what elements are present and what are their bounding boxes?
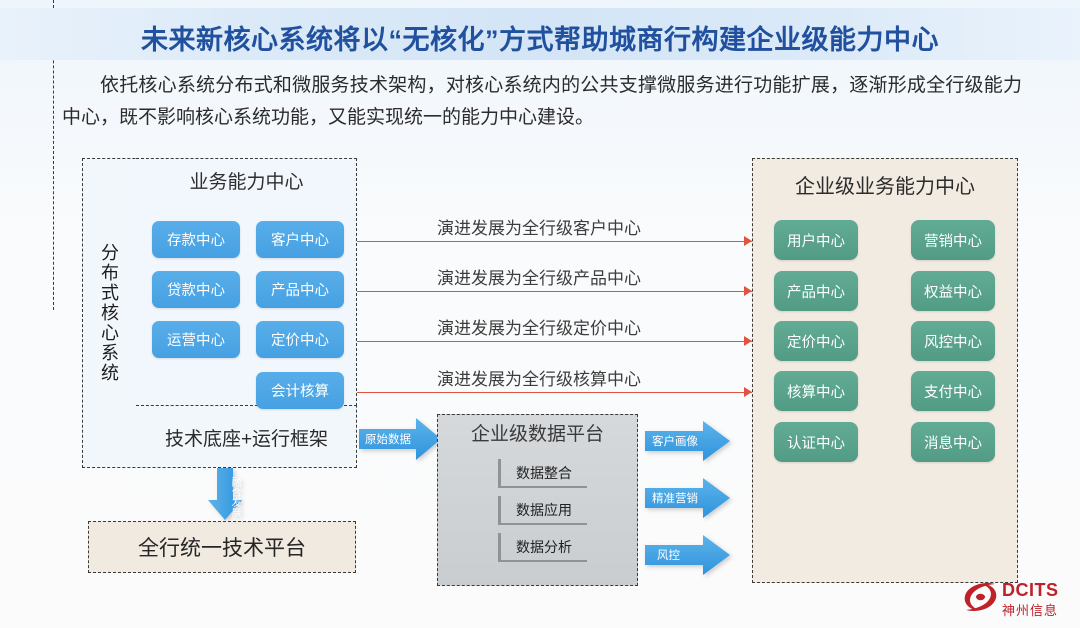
core-box-deposit[interactable]: 存款中心 — [152, 221, 240, 258]
output-arrow-customer-profile: 客户画像 — [645, 421, 730, 461]
data-platform-item-integration[interactable]: 数据整合 — [498, 459, 587, 488]
data-platform-item-analysis[interactable]: 数据分析 — [498, 533, 587, 562]
output-arrow-precision-marketing: 精准营销 — [645, 478, 730, 518]
dcits-logo: DCITS 神州信息 — [962, 578, 1074, 622]
dcits-swirl-icon — [962, 580, 998, 614]
core-box-pricing[interactable]: 定价中心 — [256, 321, 344, 358]
output-arrow-label-customer-profile: 客户画像 — [645, 421, 737, 461]
logo-text-cn: 神州信息 — [1002, 600, 1058, 619]
ent-box-payment[interactable]: 支付中心 — [911, 371, 995, 411]
output-arrow-risk-control: 风控 — [645, 535, 730, 575]
ent-box-product[interactable]: 产品中心 — [774, 271, 858, 311]
ent-box-risk[interactable]: 风控中心 — [911, 321, 995, 361]
data-platform-item-application[interactable]: 数据应用 — [498, 496, 587, 525]
slide-canvas: 未来新核心系统将以“无核化”方式帮助城商行构建企业级能力中心 依托核心系统分布式… — [0, 0, 1080, 628]
ent-box-benefits[interactable]: 权益中心 — [911, 271, 995, 311]
logo-text-en: DCITS — [1002, 580, 1059, 601]
page-title: 未来新核心系统将以“无核化”方式帮助城商行构建企业级能力中心 — [0, 18, 1080, 57]
ent-box-marketing[interactable]: 营销中心 — [911, 220, 995, 260]
ent-box-pricing[interactable]: 定价中心 — [774, 321, 858, 361]
evolution-arrow-customer — [357, 236, 752, 248]
core-box-accounting[interactable]: 会计核算 — [256, 372, 344, 409]
page-subtitle: 依托核心系统分布式和微服务技术架构，对核心系统内的公共支撑微服务进行功能扩展，逐… — [62, 70, 1022, 134]
raw-data-arrow-label: 原始数据 — [359, 418, 447, 460]
data-platform-title: 企业级数据平台 — [437, 419, 638, 446]
core-system-vertical-label: 分布式核心系统 — [82, 200, 136, 425]
raw-data-arrow: 原始数据 — [359, 418, 441, 460]
merge-down-arrow: 融合发展 — [208, 468, 242, 520]
merge-arrow-label: 融合发展 — [208, 468, 242, 523]
evolution-arrow-product — [357, 286, 752, 298]
core-box-product[interactable]: 产品中心 — [256, 271, 344, 308]
ent-box-message[interactable]: 消息中心 — [911, 422, 995, 462]
unified-tech-platform-box: 全行统一技术平台 — [88, 521, 356, 573]
evolution-arrow-accounting — [357, 387, 752, 399]
ent-box-user[interactable]: 用户中心 — [774, 220, 858, 260]
core-box-loan[interactable]: 贷款中心 — [152, 271, 240, 308]
output-arrow-label-precision-marketing: 精准营销 — [645, 478, 737, 518]
tech-base-label: 技术底座+运行框架 — [136, 406, 357, 468]
core-box-operation[interactable]: 运营中心 — [152, 321, 240, 358]
ent-box-accounting[interactable]: 核算中心 — [774, 371, 858, 411]
enterprise-panel-title: 企业级业务能力中心 — [752, 170, 1018, 199]
evolution-arrow-pricing — [357, 336, 752, 348]
ent-box-authentication[interactable]: 认证中心 — [774, 422, 858, 462]
business-capability-center-title: 业务能力中心 — [136, 167, 357, 194]
core-box-customer[interactable]: 客户中心 — [256, 221, 344, 258]
output-arrow-label-risk-control: 风控 — [645, 535, 742, 575]
